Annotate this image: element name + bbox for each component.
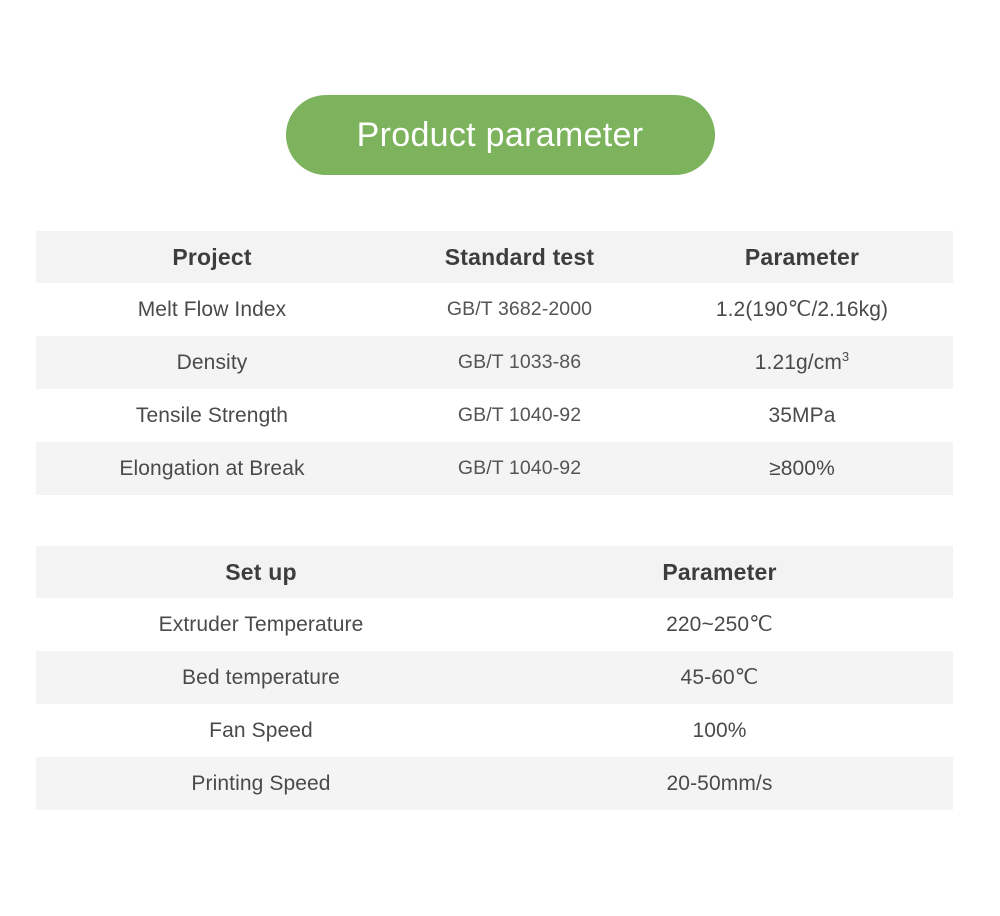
cell-value: 45-60℃ xyxy=(486,651,953,704)
cell-standard-test: GB/T 1033-86 xyxy=(388,336,651,389)
cell-value: 100% xyxy=(486,704,953,757)
cell-value: 220~250℃ xyxy=(486,598,953,651)
table-row: Bed temperature 45-60℃ xyxy=(36,651,953,704)
column-header-parameter: Parameter xyxy=(651,231,953,283)
cell-parameter-superscript: 3 xyxy=(842,349,849,364)
product-specification-table: Project Standard test Parameter Melt Flo… xyxy=(36,231,953,495)
cell-standard-test: GB/T 1040-92 xyxy=(388,442,651,495)
cell-parameter-value: 1.2(190℃/2.16kg) xyxy=(716,298,888,321)
cell-parameter-value: ≥800% xyxy=(769,457,835,480)
cell-standard-test: GB/T 3682-2000 xyxy=(388,283,651,336)
table-row: Tensile Strength GB/T 1040-92 35MPa xyxy=(36,389,953,442)
cell-parameter: 35MPa xyxy=(651,389,953,442)
table-header-row: Set up Parameter xyxy=(36,546,953,598)
table-row: Extruder Temperature 220~250℃ xyxy=(36,598,953,651)
table-row: Elongation at Break GB/T 1040-92 ≥800% xyxy=(36,442,953,495)
cell-parameter-value: 1.21g/cm xyxy=(755,351,842,374)
table-header-row: Project Standard test Parameter xyxy=(36,231,953,283)
page-title-badge: Product parameter xyxy=(286,95,715,175)
cell-setting: Fan Speed xyxy=(36,704,486,757)
cell-standard-test: GB/T 1040-92 xyxy=(388,389,651,442)
column-header-set-up: Set up xyxy=(36,546,486,598)
printing-setup-table: Set up Parameter Extruder Temperature 22… xyxy=(36,546,953,810)
cell-project: Melt Flow Index xyxy=(36,283,388,336)
column-header-parameter: Parameter xyxy=(486,546,953,598)
table-row: Melt Flow Index GB/T 3682-2000 1.2(190℃/… xyxy=(36,283,953,336)
cell-setting: Bed temperature xyxy=(36,651,486,704)
cell-project: Elongation at Break xyxy=(36,442,388,495)
cell-value: 20-50mm/s xyxy=(486,757,953,810)
column-header-project: Project xyxy=(36,231,388,283)
page-title-container: Product parameter xyxy=(0,95,1000,175)
column-header-standard-test: Standard test xyxy=(388,231,651,283)
page-title: Product parameter xyxy=(357,118,644,152)
cell-project: Density xyxy=(36,336,388,389)
table-row: Fan Speed 100% xyxy=(36,704,953,757)
cell-setting: Printing Speed xyxy=(36,757,486,810)
cell-parameter-value: 35MPa xyxy=(768,404,835,427)
product-parameter-page: Product parameter Project Standard test … xyxy=(0,0,1000,916)
cell-project: Tensile Strength xyxy=(36,389,388,442)
cell-parameter: ≥800% xyxy=(651,442,953,495)
cell-parameter: 1.2(190℃/2.16kg) xyxy=(651,283,953,336)
cell-parameter: 1.21g/cm3 xyxy=(651,336,953,389)
cell-setting: Extruder Temperature xyxy=(36,598,486,651)
table-row: Density GB/T 1033-86 1.21g/cm3 xyxy=(36,336,953,389)
table-row: Printing Speed 20-50mm/s xyxy=(36,757,953,810)
